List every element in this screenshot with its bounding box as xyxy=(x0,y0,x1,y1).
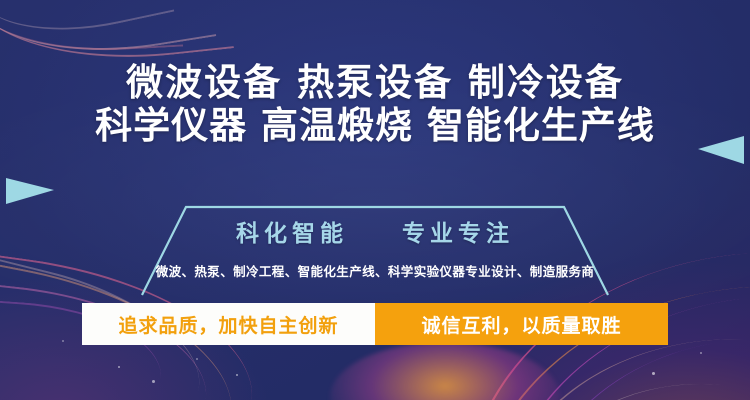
headline: 微波设备 热泵设备 制冷设备 科学仪器 高温煅烧 智能化生产线 xyxy=(0,62,750,148)
glow-bottom-center xyxy=(330,342,560,400)
slogan-left: 追求品质，加快自主创新 xyxy=(82,303,375,345)
sparkle-dot xyxy=(652,372,655,375)
sparkle-dot xyxy=(62,340,64,342)
headline-line-1: 微波设备 热泵设备 制冷设备 xyxy=(0,62,750,105)
light-streak-top-left xyxy=(0,0,240,68)
sparkle-dot xyxy=(118,366,120,368)
sparkle-dot xyxy=(152,380,155,383)
subtitle-left: 科化智能 xyxy=(236,221,348,247)
slogan-right: 诚信互利，以质量取胜 xyxy=(375,303,668,345)
slogan-bar: 追求品质，加快自主创新 诚信互利，以质量取胜 xyxy=(82,303,668,345)
sparkle-dot xyxy=(236,374,238,376)
sparkle-dot xyxy=(700,352,702,354)
triangle-right-icon xyxy=(6,178,54,204)
subtitle-description: 微波、热泵、制冷工程、智能化生产线、科学实验仪器专业设计、制造服务商 xyxy=(0,261,750,280)
subtitle-right: 专业专注 xyxy=(402,221,514,247)
promo-banner: 微波设备 热泵设备 制冷设备 科学仪器 高温煅烧 智能化生产线 科化智能 专业专… xyxy=(0,0,750,400)
sparkle-dot xyxy=(196,358,198,360)
subtitle-main: 科化智能 专业专注 xyxy=(0,214,750,248)
headline-line-2: 科学仪器 高温煅烧 智能化生产线 xyxy=(0,105,750,148)
